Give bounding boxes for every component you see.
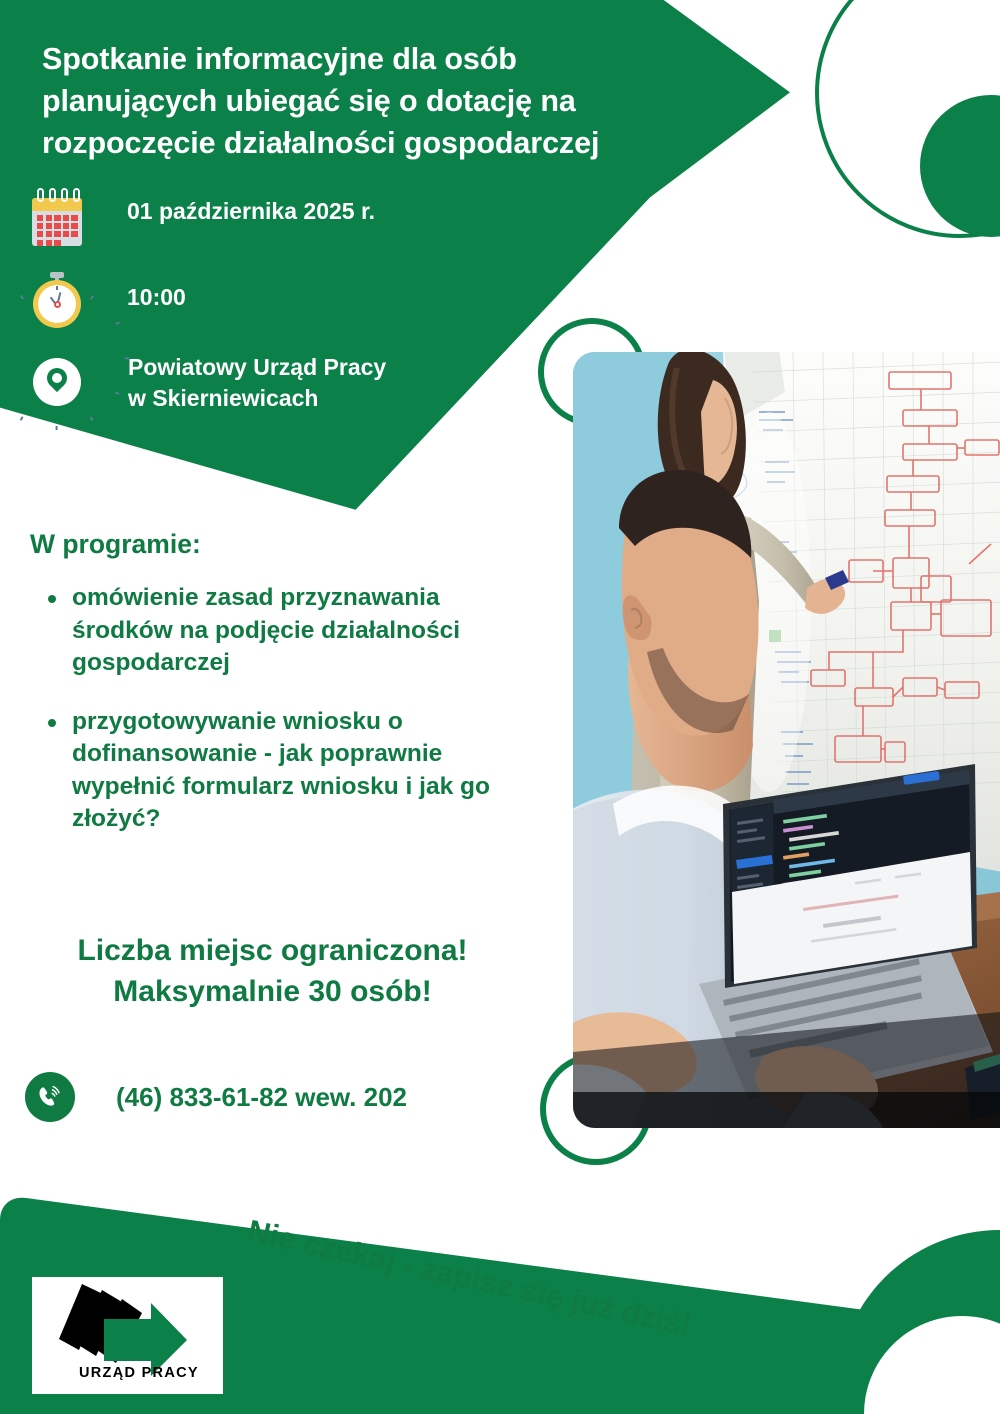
limit-line-1: Liczba miejsc ograniczona! bbox=[0, 931, 545, 972]
list-item: przygotowywanie wniosku o dofinansowanie… bbox=[42, 706, 542, 836]
contact-phone-label: (46) 833-61-82 wew. 202 bbox=[116, 1082, 407, 1113]
contact-phone-row[interactable]: (46) 833-61-82 wew. 202 bbox=[25, 1072, 407, 1122]
stopwatch-icon bbox=[28, 270, 86, 330]
poster-root: Spotkanie informacyjne dla osób planując… bbox=[0, 0, 1000, 1414]
program-heading: W programie: bbox=[30, 529, 201, 560]
info-row-date-label: 01 października 2025 r. bbox=[127, 196, 375, 227]
limit-line-2: Maksymalnie 30 osób! bbox=[0, 972, 545, 1013]
meeting-photo bbox=[573, 352, 1000, 1128]
limit-notice: Liczba miejsc ograniczona! Maksymalnie 3… bbox=[0, 931, 545, 1012]
info-row-time: 10:00 bbox=[28, 270, 186, 330]
calendar-icon bbox=[28, 186, 86, 248]
urzad-pracy-logo: URZĄD PRACY bbox=[32, 1277, 223, 1394]
page-title: Spotkanie informacyjne dla osób planując… bbox=[42, 38, 682, 164]
info-row-place-label: Powiatowy Urząd Pracy w Skierniewicach bbox=[128, 352, 386, 414]
logo-caption: URZĄD PRACY bbox=[79, 1365, 199, 1381]
info-row-time-label: 10:00 bbox=[127, 282, 186, 313]
info-row-place: Powiatowy Urząd Pracy w Skierniewicach bbox=[28, 352, 386, 414]
list-item: omówienie zasad przyznawania środków na … bbox=[42, 582, 542, 680]
info-row-date: 01 października 2025 r. bbox=[28, 186, 375, 248]
phone-icon bbox=[25, 1072, 75, 1122]
location-pin-icon bbox=[28, 352, 86, 414]
program-list: omówienie zasad przyznawania środków na … bbox=[42, 582, 542, 862]
